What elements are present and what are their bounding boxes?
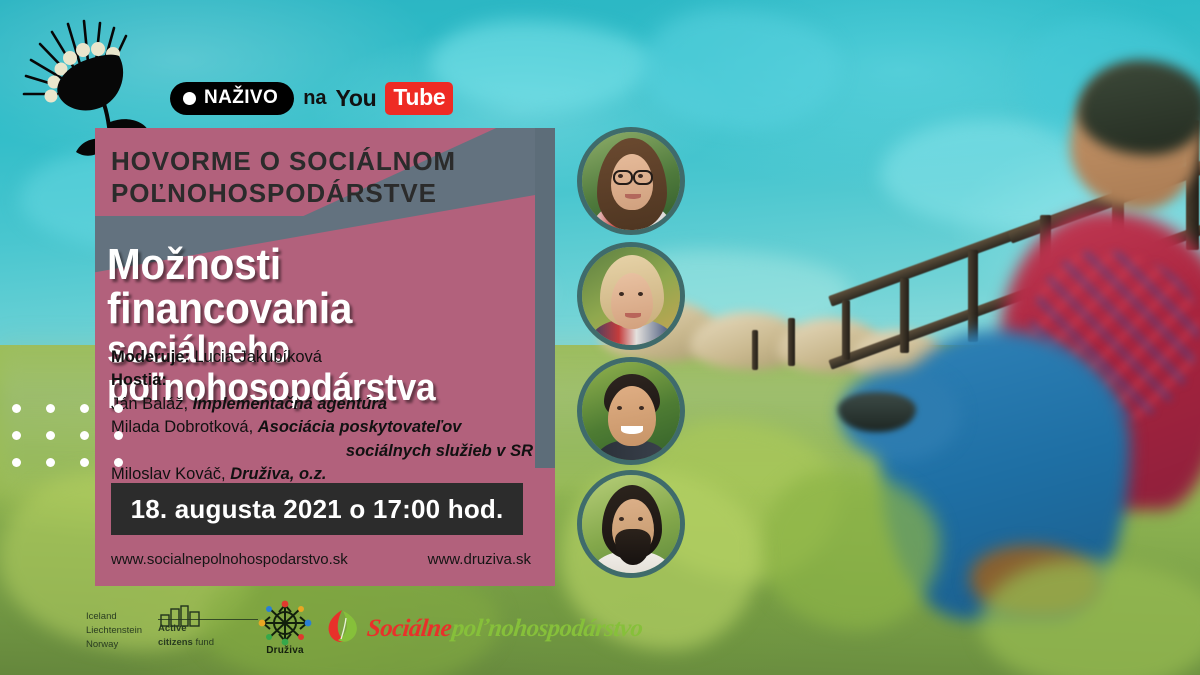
acf-country-iceland: Iceland xyxy=(86,610,142,624)
card-kicker: HOVORME O SOCIÁLNOM POĽNOHOSPODÁRSTVE xyxy=(111,146,531,209)
grid-dot xyxy=(12,404,21,413)
portrait-eye xyxy=(639,406,644,410)
dot-grid-decoration xyxy=(12,404,148,485)
portrait-glasses xyxy=(633,170,653,185)
grid-dot xyxy=(46,458,55,467)
acf-country-norway: Norway xyxy=(86,638,142,652)
portrait-mouth xyxy=(625,313,641,318)
portrait-mouth xyxy=(621,426,643,434)
portrait-face xyxy=(608,386,656,446)
grid-dot xyxy=(114,404,123,413)
grid-dot xyxy=(12,431,21,440)
druziva-logo: Druživa xyxy=(246,599,324,661)
grass-stroke xyxy=(980,560,1200,675)
portrait-eye xyxy=(638,517,643,521)
portrait-eye xyxy=(638,174,643,178)
portrait-moderator-lucia-jakubikova xyxy=(577,127,685,235)
portrait-eye xyxy=(617,406,622,410)
polnohospodarstvo-word: poľnohospodárstvo xyxy=(451,615,644,643)
event-info-card: HOVORME O SOCIÁLNOM POĽNOHOSPODÁRSTVE Mo… xyxy=(95,128,555,586)
guest-affiliation-continuation-row: sociálnych služieb v SR xyxy=(111,440,551,463)
live-badge: NAŽIVO xyxy=(170,82,294,115)
portrait-guest-miloslav-kovac xyxy=(577,470,685,578)
leaf-drop-icon xyxy=(326,609,360,650)
portrait-mouth xyxy=(625,194,641,199)
grid-dot xyxy=(12,458,21,467)
date-banner: 18. augusta 2021 o 17:00 hod. xyxy=(111,483,523,535)
socialne-polnohospodarstvo-logo: Sociálne poľnohospodárstvo xyxy=(326,607,576,651)
acf-fund-citizens: citizens xyxy=(158,637,193,648)
youtube-you-label: You xyxy=(336,85,377,112)
acf-fund-rest: fund xyxy=(193,637,214,648)
acf-fund-active: Active xyxy=(158,623,187,634)
youtube-tube-badge: Tube xyxy=(385,82,453,115)
grid-dot xyxy=(46,404,55,413)
druziva-caption: Druživa xyxy=(246,645,324,656)
url-druziva[interactable]: www.druziva.sk xyxy=(428,551,531,568)
live-dot-icon xyxy=(183,92,196,105)
portrait-eye xyxy=(638,292,643,296)
guests-label-line: Hostia: xyxy=(111,369,551,392)
acf-country-liechtenstein: Liechtenstein xyxy=(86,624,142,638)
live-badge-row: NAŽIVO na You Tube xyxy=(170,82,453,115)
guest-affiliation: Druživa, o.z. xyxy=(230,465,326,483)
url-socialnepolnohospodarstvo[interactable]: www.socialnepolnohospodarstvo.sk xyxy=(111,551,348,568)
portrait-eye xyxy=(619,517,624,521)
acf-countries: Iceland Liechtenstein Norway xyxy=(86,610,142,651)
poster-canvas: NAŽIVO na You Tube HOVORME O SOCIÁLNOM P… xyxy=(0,0,1200,675)
acf-divider xyxy=(158,619,258,620)
active-citizens-fund-logo: Iceland Liechtenstein Norway Active citi… xyxy=(86,605,261,653)
socialne-word: Sociálne xyxy=(366,615,453,643)
acf-fund-name: Active citizens fund xyxy=(158,622,214,650)
guest-row: Milada Dobrotková, Asociácia poskytovate… xyxy=(111,416,551,439)
moderator-line: Moderuje: Lucia Jakubíková xyxy=(111,346,551,369)
portrait-guest-milada-dobrotkova xyxy=(577,242,685,350)
moderator-label: Moderuje: xyxy=(111,348,190,366)
portrait-eye xyxy=(619,292,624,296)
grid-dot xyxy=(80,431,89,440)
grid-dot xyxy=(114,458,123,467)
grid-dot xyxy=(80,404,89,413)
moderator-name: Lucia Jakubíková xyxy=(194,348,322,366)
portrait-glasses xyxy=(613,170,633,185)
figure-cap xyxy=(1078,60,1200,155)
live-connector-label: na xyxy=(303,87,326,110)
credits-block: Moderuje: Lucia Jakubíková Hostia: Ján B… xyxy=(111,346,551,487)
fence-post xyxy=(900,278,909,353)
fence-post xyxy=(842,300,850,360)
footer-logo-row: Iceland Liechtenstein Norway Active citi… xyxy=(0,597,600,667)
date-banner-text: 18. augusta 2021 o 17:00 hod. xyxy=(131,494,504,525)
portrait-eye xyxy=(618,174,623,178)
guest-affiliation: Implementačná agentúra xyxy=(193,395,387,413)
headline-line-1: Možnosti financovania xyxy=(107,243,521,330)
grid-dot xyxy=(46,431,55,440)
guest-affiliation: Asociácia poskytovateľov xyxy=(258,418,462,436)
fence-post xyxy=(752,330,758,370)
grid-dot xyxy=(80,458,89,467)
fence-post xyxy=(968,250,978,342)
fence-post xyxy=(788,318,795,366)
portrait-face xyxy=(611,273,653,329)
url-row: www.socialnepolnohospodarstvo.sk www.dru… xyxy=(111,551,531,568)
live-label: NAŽIVO xyxy=(204,87,278,109)
guest-row: Ján Baláž, Implementačná agentúra xyxy=(111,393,551,416)
portrait-guest-jan-balaz xyxy=(577,357,685,465)
guests-label: Hostia: xyxy=(111,371,167,389)
grid-dot xyxy=(114,431,123,440)
guest-affiliation-continuation: sociálnych služieb v SR xyxy=(346,442,533,460)
